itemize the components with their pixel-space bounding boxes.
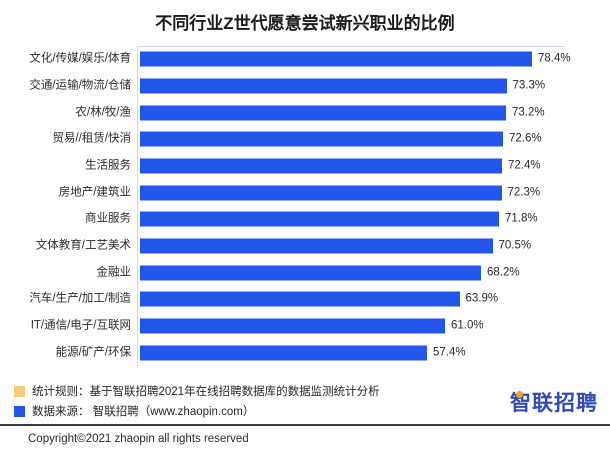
note-statistics-rule: 统计规则：基于智联招聘2021年在线招聘数据库的数据监测统计分析 xyxy=(14,381,596,401)
chart-bar xyxy=(140,132,503,147)
bar-value-label: 70.5% xyxy=(499,240,532,252)
bar-value-label: 78.4% xyxy=(538,54,571,66)
category-label: 文化/传媒/娱乐/体育 xyxy=(0,54,131,66)
legend-swatch-rule-icon xyxy=(14,386,25,397)
chart-bar xyxy=(140,318,445,333)
category-label: 房地产/建筑业 xyxy=(0,187,131,199)
bar-value-label: 57.4% xyxy=(433,347,466,359)
bar-value-label: 72.6% xyxy=(509,134,542,146)
category-label: 能源/矿产/环保 xyxy=(0,347,131,359)
copyright-text: Copyright©2021 zhaopin all rights reserv… xyxy=(28,433,249,445)
category-label: IT/通信/电子/互联网 xyxy=(0,320,131,332)
bar-value-label: 63.9% xyxy=(466,294,499,306)
chart-bar-row: 文化/传媒/娱乐/体育78.4% xyxy=(0,46,610,73)
chart-bar xyxy=(140,345,427,360)
chart-bar xyxy=(140,52,532,67)
chart-bar-row: 能源/矿产/环保57.4% xyxy=(0,339,610,366)
category-label: 生活服务 xyxy=(0,160,131,172)
category-label: 贸易//租赁/快消 xyxy=(0,134,131,146)
category-label: 农/林/牧/渔 xyxy=(0,107,131,119)
chart-bar-row: 汽车/生产/加工/制造63.9% xyxy=(0,286,610,313)
category-label: 交通/运输/物流/仓储 xyxy=(0,80,131,92)
footer-divider xyxy=(0,424,610,426)
bar-value-label: 72.4% xyxy=(508,160,541,172)
chart-bar-row: 金融业68.2% xyxy=(0,259,610,286)
chart-bar-row: 文体教育/工艺美术70.5% xyxy=(0,233,610,260)
bar-value-label: 68.2% xyxy=(487,267,520,279)
chart-bar xyxy=(140,292,460,307)
page-title: 不同行业Z世代愿意尝试新兴职业的比例 xyxy=(0,9,610,34)
brand-logo: 智联招聘 xyxy=(510,393,598,414)
chart-plot-area: 文化/传媒/娱乐/体育78.4%交通/运输/物流/仓储73.3%农/林/牧/渔7… xyxy=(0,46,610,366)
category-label: 汽车/生产/加工/制造 xyxy=(0,294,131,306)
chart-bar-row: 房地产/建筑业72.3% xyxy=(0,179,610,206)
chart-bar xyxy=(140,185,502,200)
bar-value-label: 73.2% xyxy=(512,107,545,119)
chart-notes: 统计规则：基于智联招聘2021年在线招聘数据库的数据监测统计分析 数据来源： 智… xyxy=(14,381,596,421)
note-data-source: 数据来源： 智联招聘（www.zhaopin.com） xyxy=(14,401,596,421)
bar-value-label: 73.3% xyxy=(513,80,546,92)
chart-bar-row: IT/通信/电子/互联网61.0% xyxy=(0,313,610,340)
category-label: 商业服务 xyxy=(0,214,131,226)
brand-logo-text: 智联招聘 xyxy=(510,392,598,415)
chart-bar xyxy=(140,212,499,227)
chart-bar-row: 交通/运输/物流/仓储73.3% xyxy=(0,73,610,100)
bar-value-label: 72.3% xyxy=(508,187,541,199)
chart-bar-row: 商业服务71.8% xyxy=(0,206,610,233)
bar-value-label: 61.0% xyxy=(451,320,484,332)
chart-bar-row: 贸易//租赁/快消72.6% xyxy=(0,126,610,153)
note-data-source-text: 数据来源： 智联招聘（www.zhaopin.com） xyxy=(32,403,254,419)
note-statistics-rule-text: 统计规则：基于智联招聘2021年在线招聘数据库的数据监测统计分析 xyxy=(32,383,380,399)
chart-bar xyxy=(140,105,506,120)
category-label: 文体教育/工艺美术 xyxy=(0,240,131,252)
category-label: 金融业 xyxy=(0,267,131,279)
chart-bar xyxy=(140,238,493,253)
legend-swatch-source-icon xyxy=(14,406,25,417)
bar-value-label: 71.8% xyxy=(505,214,538,226)
chart-bar xyxy=(140,158,502,173)
chart-bar-row: 农/林/牧/渔73.2% xyxy=(0,99,610,126)
chart-bar xyxy=(140,265,481,280)
chart-bar-row: 生活服务72.4% xyxy=(0,153,610,180)
chart-bar xyxy=(140,78,507,93)
